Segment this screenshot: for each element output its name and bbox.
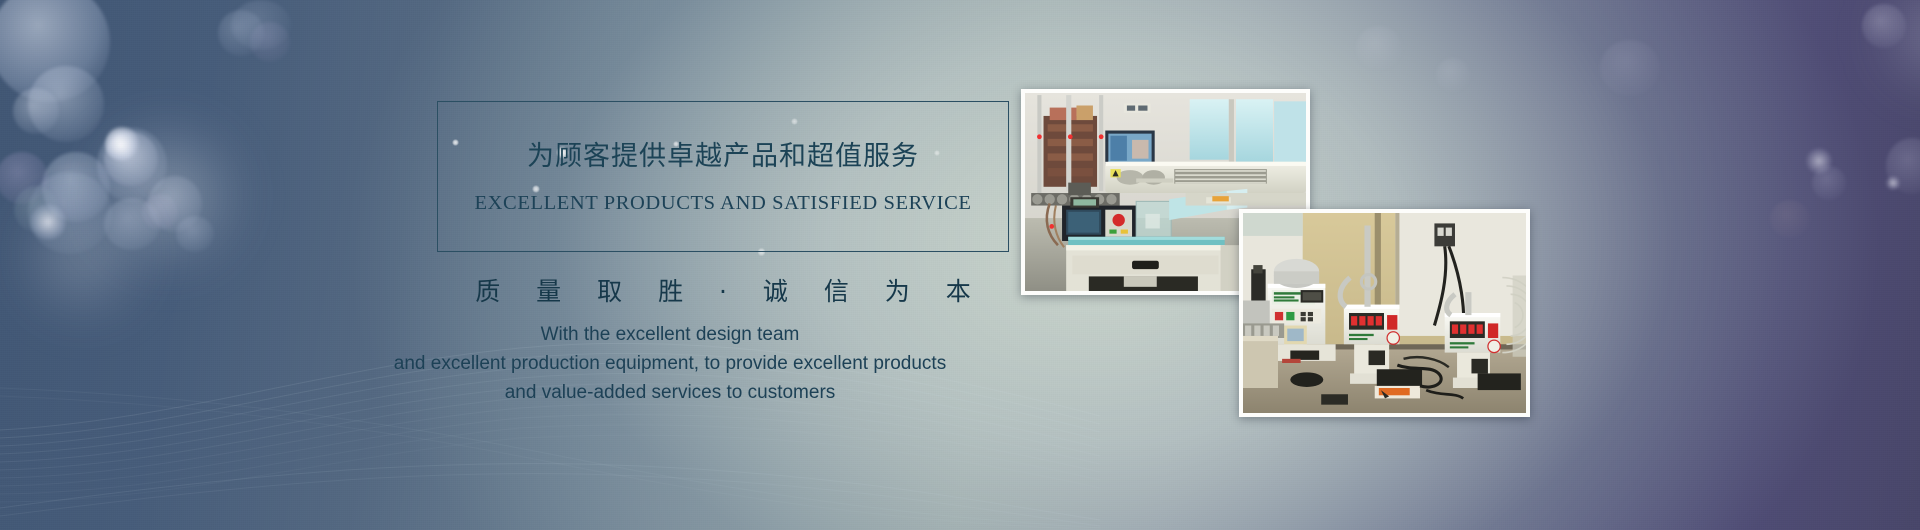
workshop-press-machines-photo <box>1239 209 1530 417</box>
photo-2-artwork <box>1243 213 1526 413</box>
description-line-3: and value-added services to customers <box>330 378 1010 407</box>
headline-english: EXCELLENT PRODUCTS AND SATISFIED SERVICE <box>437 192 1009 215</box>
description-paragraph: With the excellent design team and excel… <box>330 320 1010 407</box>
description-line-2: and excellent production equipment, to p… <box>330 349 1010 378</box>
slogan-chinese: 质 量 取 胜 · 诚 信 为 本 <box>437 272 1009 308</box>
description-line-1: With the excellent design team <box>330 320 1010 349</box>
promo-banner: 为顾客提供卓越产品和超值服务 EXCELLENT PRODUCTS AND SA… <box>0 0 1920 530</box>
headline-frame <box>437 101 1009 252</box>
text-column: 为顾客提供卓越产品和超值服务 EXCELLENT PRODUCTS AND SA… <box>0 0 1010 530</box>
photo-2-content <box>1243 213 1526 413</box>
headline-chinese: 为顾客提供卓越产品和超值服务 <box>437 134 1009 173</box>
